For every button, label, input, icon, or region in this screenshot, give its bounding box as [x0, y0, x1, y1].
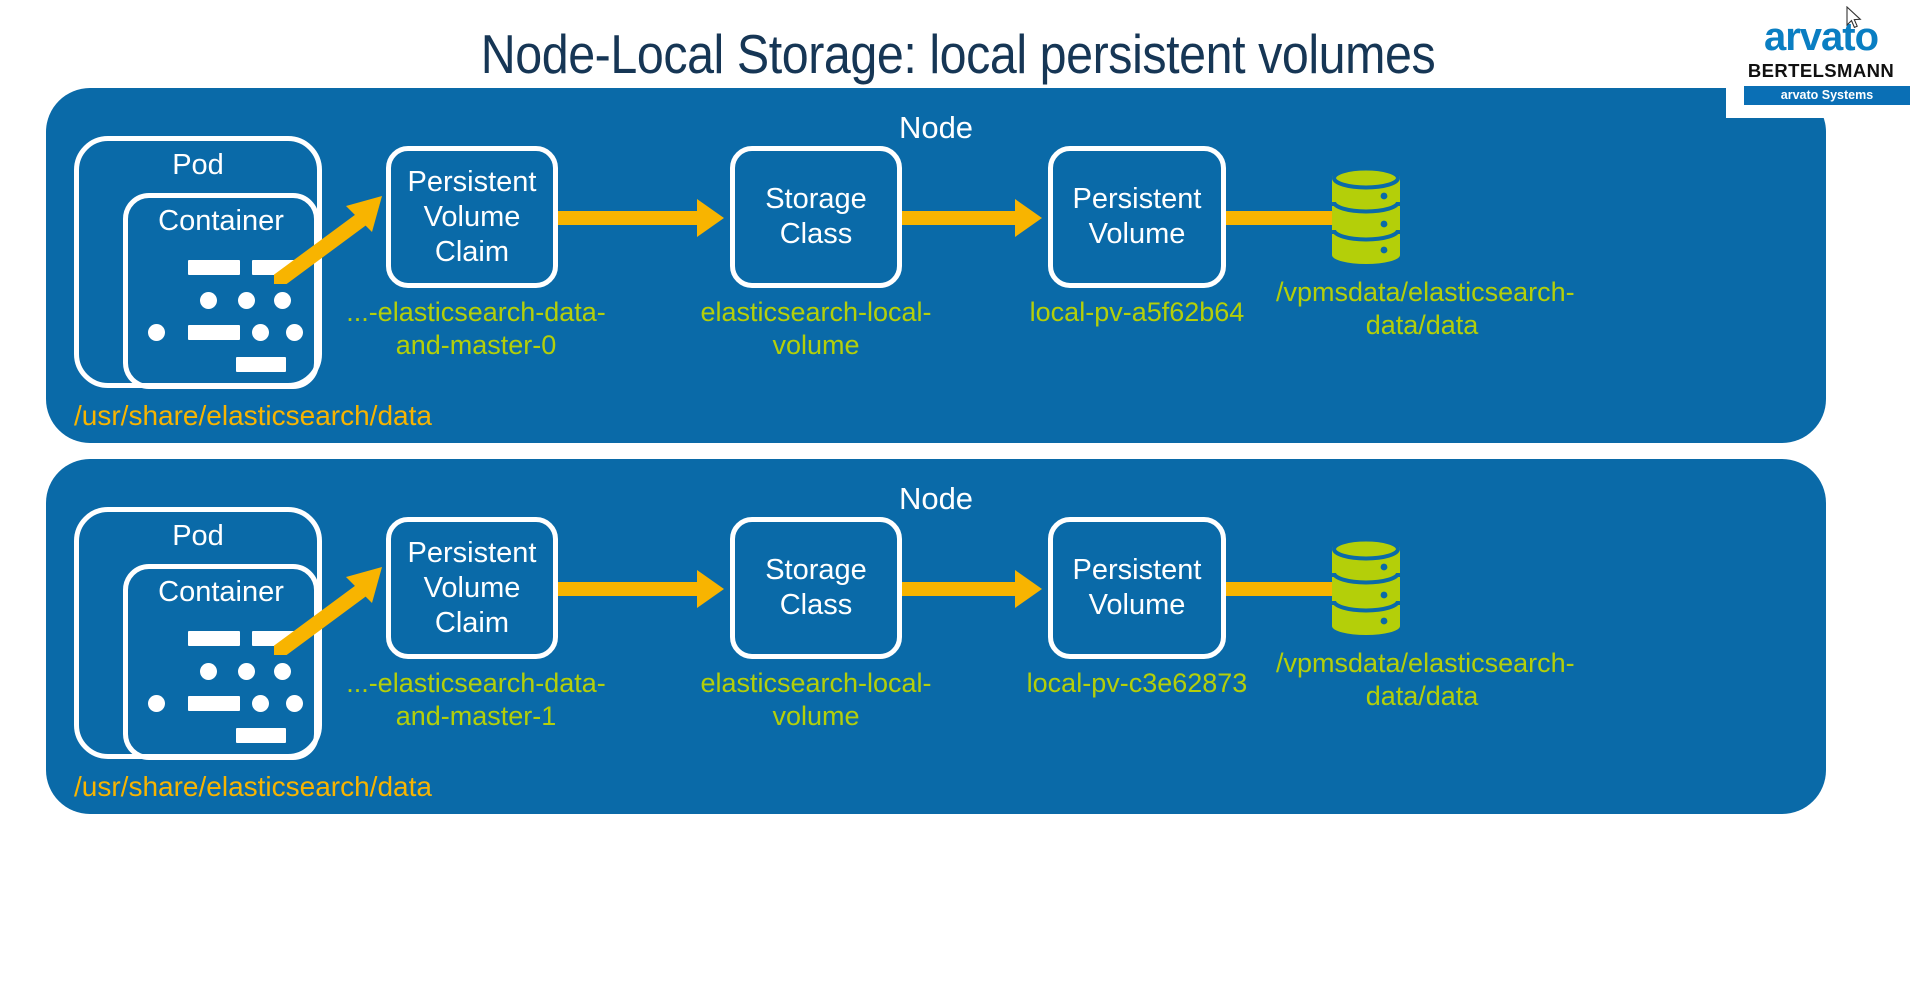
pv-caption: local-pv-c3e62873 [1001, 667, 1273, 700]
logo-wordmark: arvato [1726, 14, 1916, 60]
storage-class-box: Storage Class [730, 146, 902, 288]
pod-label: Pod [79, 149, 317, 182]
storage-class-label: Storage Class [765, 182, 867, 252]
pvc-caption: ...-elasticsearch-data-and-master-1 [336, 667, 616, 733]
pvc-caption: ...-elasticsearch-data-and-master-0 [336, 296, 616, 362]
persistent-volume-claim-box: Persistent Volume Claim [386, 517, 558, 659]
persistent-volume-claim-label: Persistent Volume Claim [408, 165, 537, 270]
arrow-pvc-to-storage-class [558, 582, 698, 596]
arrow-pvc-to-storage-class [558, 211, 698, 225]
mouse-cursor-icon [1846, 6, 1862, 30]
database-cylinder-icon [1332, 533, 1400, 635]
persistent-volume-claim-label: Persistent Volume Claim [408, 536, 537, 641]
storage-class-label: Storage Class [765, 553, 867, 623]
container-mount-path: /usr/share/elasticsearch/data [74, 771, 414, 803]
logo-subtitle: BERTELSMANN [1726, 60, 1916, 82]
arrow-pod-to-pvc [274, 559, 396, 655]
node-panel: Node Pod Container Persistent Volume Cla… [46, 459, 1826, 814]
container-mount-path: /usr/share/elasticsearch/data [74, 400, 414, 432]
database-cylinder-icon [1332, 162, 1400, 264]
persistent-volume-box: Persistent Volume [1048, 146, 1226, 288]
storage-path-caption: /vpmsdata/elasticsearch-data/data [1276, 276, 1568, 342]
storage-path-caption: /vpmsdata/elasticsearch-data/data [1276, 647, 1568, 713]
pod-label: Pod [79, 520, 317, 553]
node-label: Node [46, 110, 1826, 146]
page-title: Node-Local Storage: local persistent vol… [115, 22, 1801, 86]
arrow-pv-to-storage [1226, 582, 1338, 596]
storage-class-caption: elasticsearch-local-volume [666, 296, 966, 362]
arrow-pv-to-storage [1226, 211, 1338, 225]
arvato-logo: arvato BERTELSMANN arvato Systems [1726, 0, 1916, 118]
arrow-pod-to-pvc [274, 188, 396, 284]
persistent-volume-label: Persistent Volume [1073, 553, 1202, 623]
arrow-storage-class-to-pv [902, 582, 1016, 596]
persistent-volume-label: Persistent Volume [1073, 182, 1202, 252]
storage-class-caption: elasticsearch-local-volume [666, 667, 966, 733]
pv-caption: local-pv-a5f62b64 [1001, 296, 1273, 329]
persistent-volume-claim-box: Persistent Volume Claim [386, 146, 558, 288]
arrow-storage-class-to-pv [902, 211, 1016, 225]
logo-systems-bar: arvato Systems [1744, 86, 1910, 105]
persistent-volume-box: Persistent Volume [1048, 517, 1226, 659]
node-panel: Node Pod Container Persistent Volum [46, 88, 1826, 443]
storage-class-box: Storage Class [730, 517, 902, 659]
node-label: Node [46, 481, 1826, 517]
